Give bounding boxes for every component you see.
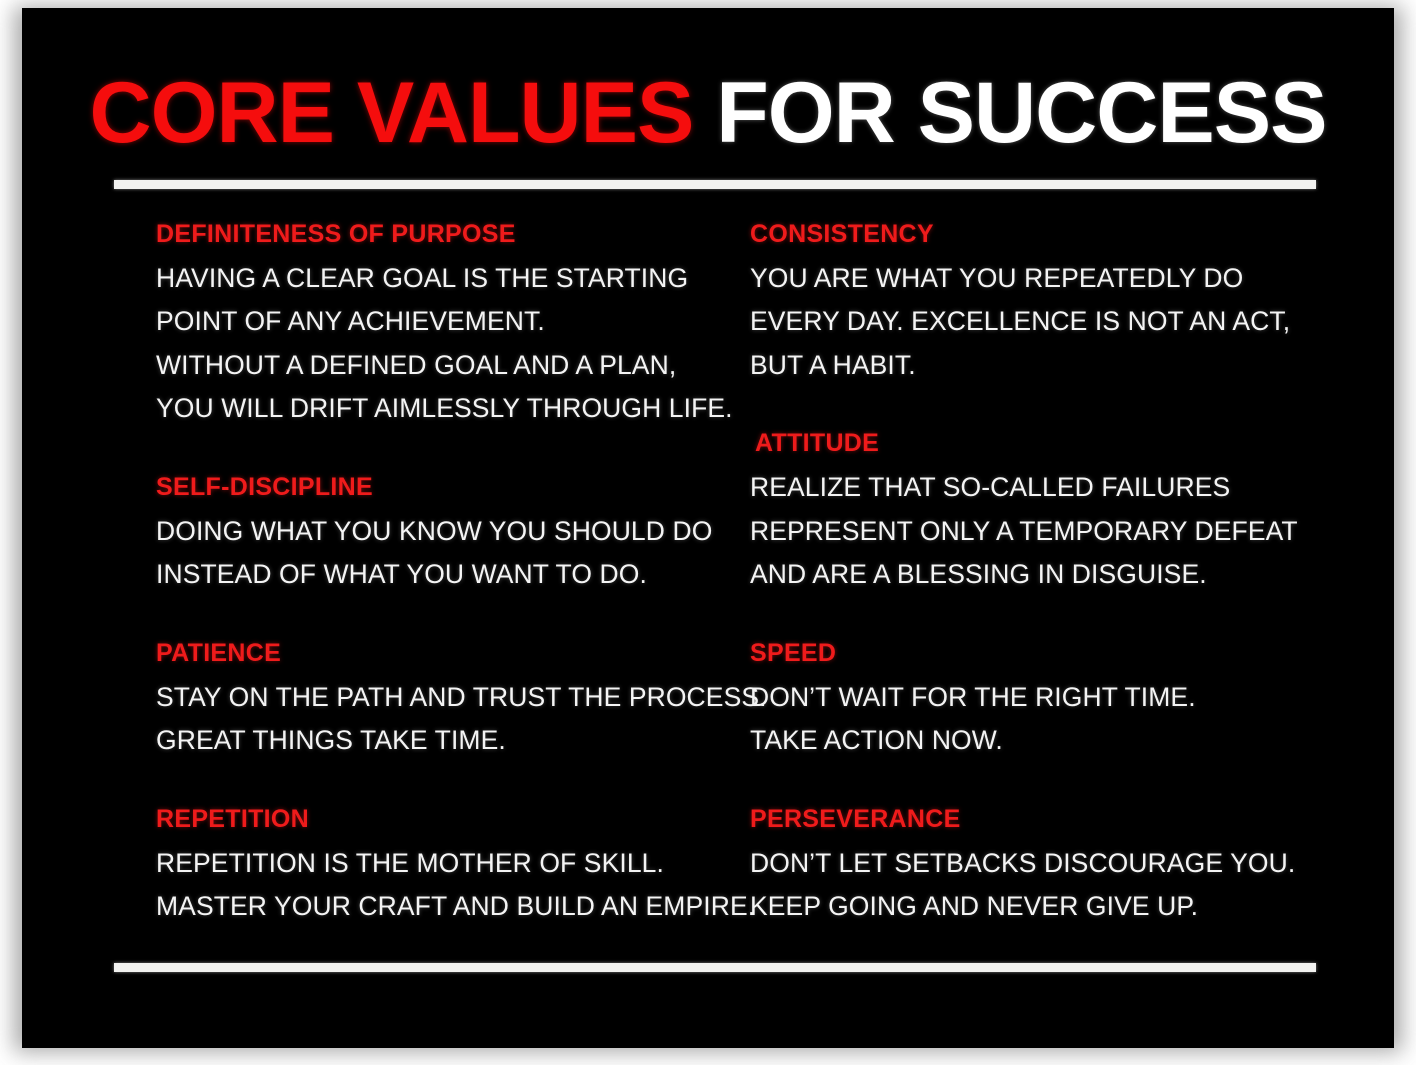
section-line: BUT A HABIT. (750, 344, 1350, 387)
page-title-red-part: CORE VALUES (90, 65, 694, 161)
value-section-attitude: ATTITUDEREALIZE THAT SO-CALLED FAILURESR… (750, 429, 1350, 596)
section-body-patience: STAY ON THE PATH AND TRUST THE PROCESS.G… (156, 676, 756, 763)
value-section-consistency: CONSISTENCYYOU ARE WHAT YOU REPEATEDLY D… (750, 220, 1350, 387)
value-section-definiteness-of-purpose: DEFINITENESS OF PURPOSEHAVING A CLEAR GO… (156, 220, 756, 431)
section-heading-repetition: REPETITION (156, 805, 756, 834)
section-line: AND ARE A BLESSING IN DISGUISE. (750, 553, 1350, 596)
section-line: DON’T WAIT FOR THE RIGHT TIME. (750, 676, 1350, 719)
section-line: REPRESENT ONLY A TEMPORARY DEFEAT (750, 510, 1350, 553)
section-body-consistency: YOU ARE WHAT YOU REPEATEDLY DOEVERY DAY.… (750, 257, 1350, 387)
poster-canvas: CORE VALUES FOR SUCCESS DEFINITENESS OF … (0, 0, 1416, 1065)
section-line: KEEP GOING AND NEVER GIVE UP. (750, 885, 1350, 928)
section-line: HAVING A CLEAR GOAL IS THE STARTING (156, 257, 756, 300)
section-line: YOU ARE WHAT YOU REPEATEDLY DO (750, 257, 1350, 300)
section-heading-consistency: CONSISTENCY (750, 220, 1350, 249)
value-section-repetition: REPETITIONREPETITION IS THE MOTHER OF SK… (156, 805, 756, 929)
section-line: YOU WILL DRIFT AIMLESSLY THROUGH LIFE. (156, 387, 756, 430)
section-line: TAKE ACTION NOW. (750, 719, 1350, 762)
section-line: DOING WHAT YOU KNOW YOU SHOULD DO (156, 510, 756, 553)
page-title: CORE VALUES FOR SUCCESS (22, 70, 1394, 156)
section-body-attitude: REALIZE THAT SO-CALLED FAILURESREPRESENT… (750, 466, 1350, 596)
section-heading-perseverance: PERSEVERANCE (750, 805, 1350, 834)
section-heading-definiteness-of-purpose: DEFINITENESS OF PURPOSE (156, 220, 756, 249)
section-line: WITHOUT A DEFINED GOAL AND A PLAN, (156, 344, 756, 387)
section-heading-speed: SPEED (750, 639, 1350, 668)
section-body-speed: DON’T WAIT FOR THE RIGHT TIME.TAKE ACTIO… (750, 676, 1350, 763)
value-section-speed: SPEEDDON’T WAIT FOR THE RIGHT TIME.TAKE … (750, 639, 1350, 763)
poster-panel: CORE VALUES FOR SUCCESS DEFINITENESS OF … (22, 8, 1394, 1048)
section-line: STAY ON THE PATH AND TRUST THE PROCESS. (156, 676, 756, 719)
section-line: GREAT THINGS TAKE TIME. (156, 719, 756, 762)
section-line: POINT OF ANY ACHIEVEMENT. (156, 300, 756, 343)
value-section-perseverance: PERSEVERANCEDON’T LET SETBACKS DISCOURAG… (750, 805, 1350, 929)
section-line: REPETITION IS THE MOTHER OF SKILL. (156, 842, 756, 885)
values-column-left: DEFINITENESS OF PURPOSEHAVING A CLEAR GO… (156, 220, 756, 929)
section-heading-self-discipline: SELF-DISCIPLINE (156, 473, 756, 502)
section-line: REALIZE THAT SO-CALLED FAILURES (750, 466, 1350, 509)
section-body-definiteness-of-purpose: HAVING A CLEAR GOAL IS THE STARTINGPOINT… (156, 257, 756, 431)
values-column-right: CONSISTENCYYOU ARE WHAT YOU REPEATEDLY D… (750, 220, 1350, 929)
divider-top (114, 180, 1316, 189)
section-heading-attitude: ATTITUDE (750, 429, 1350, 458)
section-line: EVERY DAY. EXCELLENCE IS NOT AN ACT, (750, 300, 1350, 343)
divider-bottom (114, 963, 1316, 972)
section-line: DON’T LET SETBACKS DISCOURAGE YOU. (750, 842, 1350, 885)
section-body-repetition: REPETITION IS THE MOTHER OF SKILL.MASTER… (156, 842, 756, 929)
section-body-self-discipline: DOING WHAT YOU KNOW YOU SHOULD DOINSTEAD… (156, 510, 756, 597)
page-title-white-part: FOR SUCCESS (693, 65, 1326, 161)
value-section-self-discipline: SELF-DISCIPLINEDOING WHAT YOU KNOW YOU S… (156, 473, 756, 597)
section-heading-patience: PATIENCE (156, 639, 756, 668)
section-body-perseverance: DON’T LET SETBACKS DISCOURAGE YOU.KEEP G… (750, 842, 1350, 929)
value-section-patience: PATIENCESTAY ON THE PATH AND TRUST THE P… (156, 639, 756, 763)
section-line: MASTER YOUR CRAFT AND BUILD AN EMPIRE. (156, 885, 756, 928)
section-line: INSTEAD OF WHAT YOU WANT TO DO. (156, 553, 756, 596)
